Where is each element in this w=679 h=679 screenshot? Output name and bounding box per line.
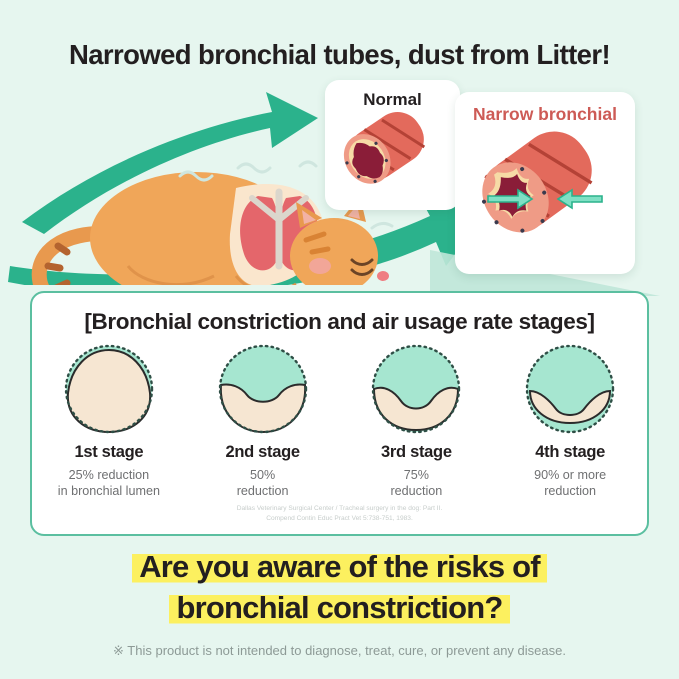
stage-2-name: 2nd stage <box>188 443 338 462</box>
stage-item: 3rd stage 75%reduction <box>341 341 491 499</box>
stage-item: 2nd stage 50%reduction <box>188 341 338 499</box>
bronchial-tube-normal-icon <box>340 112 446 200</box>
stage-item: 1st stage 25% reductionin bronchial lume… <box>34 341 184 499</box>
card-narrow: Narrow bronchial <box>455 92 635 274</box>
stage-4-desc: 90% or morereduction <box>495 467 645 499</box>
stages-panel: [Bronchial constriction and air usage ra… <box>30 291 649 536</box>
stage-3-name: 3rd stage <box>341 443 491 462</box>
citation-line-2: Compend Contin Educ Pract Vet 5:738-751,… <box>32 514 647 524</box>
stage-3-desc: 75%reduction <box>341 467 491 499</box>
stage-3-diagram-icon <box>368 341 464 437</box>
stage-2-desc: 50%reduction <box>188 467 338 499</box>
stages-panel-title: [Bronchial constriction and air usage ra… <box>32 309 647 335</box>
bottom-headline-line-1: Are you aware of the risks of <box>0 546 679 587</box>
stage-4-name: 4th stage <box>495 443 645 462</box>
stage-1-desc: 25% reductionin bronchial lumen <box>34 467 184 499</box>
card-narrow-title: Narrow bronchial <box>455 104 635 125</box>
stage-1-diagram-icon <box>61 341 157 437</box>
bottom-headline-line-2: bronchial constriction? <box>0 587 679 628</box>
card-normal: Normal <box>325 80 460 210</box>
citation-line-1: Dallas Veterinary Surgical Center / Trac… <box>32 504 647 514</box>
card-normal-title: Normal <box>325 90 460 110</box>
stage-2-diagram-icon <box>215 341 311 437</box>
disclaimer-text: ※ This product is not intended to diagno… <box>0 643 679 659</box>
stage-1-name: 1st stage <box>34 443 184 462</box>
bottom-headline: Are you aware of the risks of bronchial … <box>0 546 679 628</box>
citation: Dallas Veterinary Surgical Center / Trac… <box>32 504 647 524</box>
infographic-root: Narrowed bronchial tubes, dust from Litt… <box>0 0 679 679</box>
page-title: Narrowed bronchial tubes, dust from Litt… <box>0 39 679 71</box>
stage-4-diagram-icon <box>522 341 618 437</box>
bronchial-tube-narrow-icon <box>474 130 616 254</box>
stages-list: 1st stage 25% reductionin bronchial lume… <box>32 341 647 499</box>
stage-item: 4th stage 90% or morereduction <box>495 341 645 499</box>
